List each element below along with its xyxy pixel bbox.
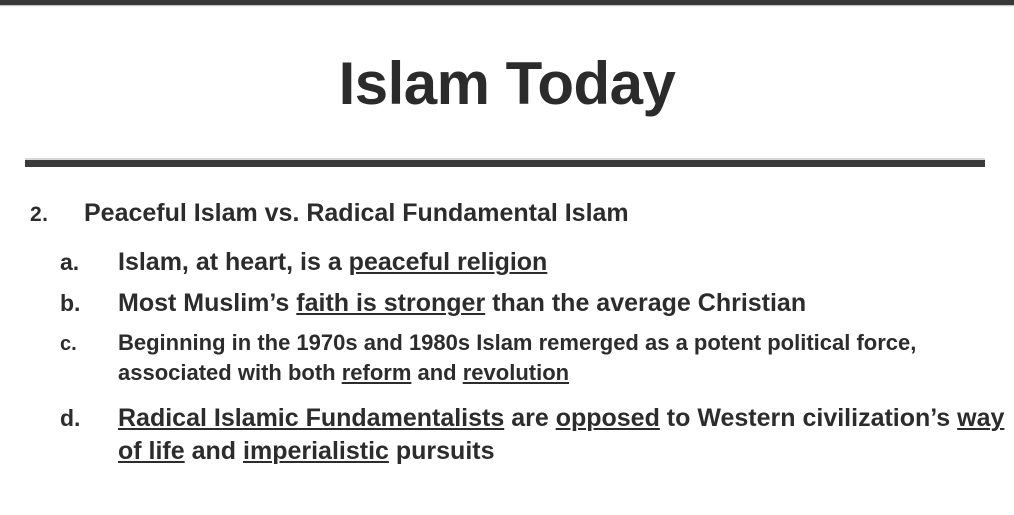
list-item: d. Radical Islamic Fundamentalists are o… (0, 402, 1014, 468)
list-item-text: Peaceful Islam vs. Radical Fundamental I… (84, 199, 629, 227)
list-item: c. Beginning in the 1970s and 1980s Isla… (0, 328, 1014, 388)
emphasized-text: reform (342, 360, 412, 385)
spacer (0, 392, 1014, 402)
plain-text: and (185, 437, 243, 465)
plain-text: and (411, 360, 462, 385)
title-divider-rule (25, 160, 985, 167)
list-item-text: Beginning in the 1970s and 1980s Islam r… (118, 330, 916, 385)
list-item-text: Most Muslim’s faith is stronger than the… (118, 289, 806, 317)
emphasized-text: faith is stronger (296, 289, 485, 317)
plain-text: Islam, at heart, is a (118, 248, 349, 276)
list-marker: d. (60, 402, 100, 435)
slide-canvas: Islam Today 2. Peaceful Islam vs. Radica… (0, 0, 1014, 515)
list-marker: 2. (30, 198, 70, 232)
plain-text: to Western civilization’s (660, 404, 957, 432)
list-marker: a. (60, 246, 100, 279)
outline-list: 2. Peaceful Islam vs. Radical Fundamenta… (0, 196, 1014, 470)
list-item-text: Islam, at heart, is a peaceful religion (118, 248, 547, 276)
list-item: 2. Peaceful Islam vs. Radical Fundamenta… (0, 196, 1014, 230)
list-item: b. Most Muslim’s faith is stronger than … (0, 287, 1014, 320)
plain-text: Most Muslim’s (118, 289, 296, 317)
page-title: Islam Today (0, 48, 1014, 120)
spacer (0, 236, 1014, 246)
emphasized-text: peaceful religion (349, 248, 548, 276)
emphasized-text: Radical Islamic Fundamentalists (118, 404, 504, 432)
emphasized-text: imperialistic (243, 437, 389, 465)
list-marker: c. (60, 329, 100, 359)
list-marker: b. (60, 287, 100, 320)
emphasized-text: revolution (463, 360, 569, 385)
plain-text: than the average Christian (485, 289, 806, 317)
list-item-text: Radical Islamic Fundamentalists are oppo… (118, 404, 1004, 465)
emphasized-text: opposed (556, 404, 660, 432)
plain-text: are (504, 404, 555, 432)
list-item: a. Islam, at heart, is a peaceful religi… (0, 246, 1014, 279)
plain-text: pursuits (389, 437, 495, 465)
